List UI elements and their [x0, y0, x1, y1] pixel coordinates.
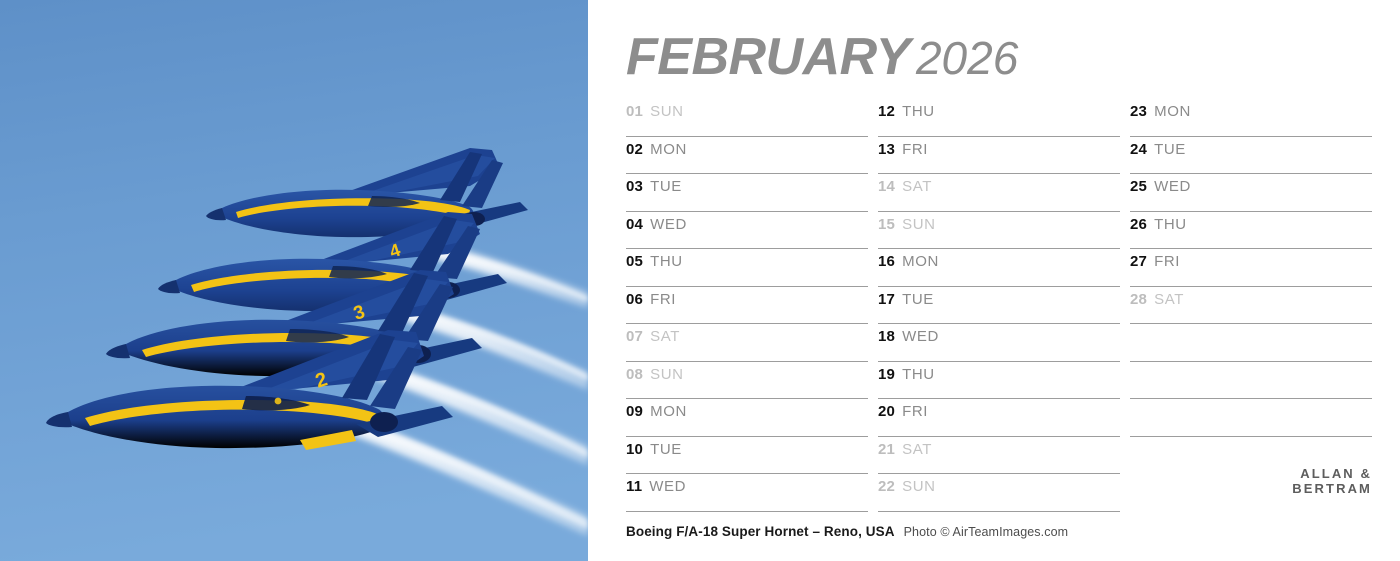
day-row[interactable]: 18WED: [878, 324, 1120, 362]
day-number: 17: [878, 291, 895, 308]
day-name: TUE: [1154, 141, 1186, 158]
day-name: THU: [1154, 216, 1187, 233]
day-name: MON: [902, 253, 939, 270]
day-name: FRI: [650, 291, 676, 308]
day-name: SUN: [902, 216, 935, 233]
day-number: 11: [626, 478, 642, 495]
day-name: WED: [1154, 178, 1191, 195]
day-name: SAT: [902, 441, 932, 458]
day-row[interactable]: 23MON: [1130, 99, 1372, 137]
day-name: SAT: [902, 178, 932, 195]
logo-line-1: ALLAN &: [1292, 466, 1372, 481]
calendar-panel: FEBRUARY2026 01SUN 02MON 03TUE 04WED 05T…: [588, 0, 1400, 561]
day-row[interactable]: 16MON: [878, 249, 1120, 287]
day-number: 24: [1130, 141, 1147, 158]
blank-note-row[interactable]: [1130, 362, 1372, 400]
day-row[interactable]: 22SUN: [878, 474, 1120, 512]
day-row[interactable]: 17TUE: [878, 287, 1120, 325]
day-number: 27: [1130, 253, 1147, 270]
day-number: 16: [878, 253, 895, 270]
day-name: MON: [1154, 103, 1191, 120]
year-label: 2026: [916, 32, 1018, 84]
day-number: 14: [878, 178, 895, 195]
day-name: THU: [650, 253, 683, 270]
day-row[interactable]: 25WED: [1130, 174, 1372, 212]
day-number: 06: [626, 291, 643, 308]
day-name: SUN: [650, 366, 683, 383]
day-number: 04: [626, 216, 643, 233]
month-label: FEBRUARY: [626, 28, 910, 86]
day-name: TUE: [902, 291, 934, 308]
day-number: 09: [626, 403, 643, 420]
caption-credit: Photo © AirTeamImages.com: [904, 525, 1069, 539]
pilot-helmet: [275, 398, 282, 405]
day-number: 20: [878, 403, 895, 420]
day-number: 01: [626, 103, 643, 120]
day-row[interactable]: 08SUN: [626, 362, 868, 400]
day-row[interactable]: 24TUE: [1130, 137, 1372, 175]
day-name: WED: [650, 216, 687, 233]
day-name: WED: [902, 328, 939, 345]
day-name: MON: [650, 403, 687, 420]
blank-note-row[interactable]: [1130, 324, 1372, 362]
day-name: THU: [902, 103, 935, 120]
day-row[interactable]: 02MON: [626, 137, 868, 175]
day-row[interactable]: 11WED: [626, 474, 868, 512]
day-name: FRI: [902, 403, 928, 420]
day-row[interactable]: 07SAT: [626, 324, 868, 362]
day-name: SUN: [902, 478, 935, 495]
day-number: 03: [626, 178, 643, 195]
day-row[interactable]: 20FRI: [878, 399, 1120, 437]
day-number: 13: [878, 141, 895, 158]
day-row[interactable]: 28SAT: [1130, 287, 1372, 325]
day-row[interactable]: 09MON: [626, 399, 868, 437]
day-number: 12: [878, 103, 895, 120]
day-row[interactable]: 14SAT: [878, 174, 1120, 212]
day-number: 23: [1130, 103, 1147, 120]
day-number: 25: [1130, 178, 1147, 195]
day-row[interactable]: 10TUE: [626, 437, 868, 475]
day-number: 07: [626, 328, 643, 345]
day-row[interactable]: 12THU: [878, 99, 1120, 137]
day-name: SAT: [650, 328, 680, 345]
day-name: FRI: [902, 141, 928, 158]
day-row[interactable]: 21SAT: [878, 437, 1120, 475]
day-name: THU: [902, 366, 935, 383]
day-number: 08: [626, 366, 643, 383]
day-name: MON: [650, 141, 687, 158]
day-row[interactable]: 04WED: [626, 212, 868, 250]
photo-caption: Boeing F/A-18 Super Hornet – Reno, USAPh…: [626, 523, 1068, 541]
day-column-3: 23MON 24TUE 25WED 26THU 27FRI 28SAT: [1130, 99, 1372, 512]
day-number: 26: [1130, 216, 1147, 233]
photo-panel: 4 3: [0, 0, 588, 561]
day-row[interactable]: 27FRI: [1130, 249, 1372, 287]
calendar-page: 4 3: [0, 0, 1400, 561]
day-row[interactable]: 26THU: [1130, 212, 1372, 250]
caption-subject: Boeing F/A-18 Super Hornet – Reno, USA: [626, 524, 895, 539]
day-number: 05: [626, 253, 643, 270]
day-name: TUE: [650, 441, 682, 458]
day-row[interactable]: 03TUE: [626, 174, 868, 212]
day-number: 02: [626, 141, 643, 158]
blue-angels-photo: 4 3: [0, 0, 588, 561]
blank-note-row[interactable]: [1130, 399, 1372, 437]
day-number: 18: [878, 328, 895, 345]
day-row[interactable]: 06FRI: [626, 287, 868, 325]
day-row[interactable]: 13FRI: [878, 137, 1120, 175]
logo-line-2: BERTRAM: [1292, 481, 1372, 496]
day-name: TUE: [650, 178, 682, 195]
day-number: 15: [878, 216, 895, 233]
day-row[interactable]: 05THU: [626, 249, 868, 287]
day-number: 28: [1130, 291, 1147, 308]
page-title: FEBRUARY2026: [626, 31, 1018, 83]
day-name: FRI: [1154, 253, 1180, 270]
day-columns: 01SUN 02MON 03TUE 04WED 05THU 06FRI 07SA…: [626, 99, 1372, 512]
brand-logo: ALLAN & BERTRAM: [1292, 466, 1372, 496]
day-column-1: 01SUN 02MON 03TUE 04WED 05THU 06FRI 07SA…: [626, 99, 868, 512]
day-row[interactable]: 15SUN: [878, 212, 1120, 250]
day-row[interactable]: 01SUN: [626, 99, 868, 137]
day-column-2: 12THU 13FRI 14SAT 15SUN 16MON 17TUE 18WE…: [878, 99, 1120, 512]
day-number: 22: [878, 478, 895, 495]
day-number: 10: [626, 441, 643, 458]
day-name: SUN: [650, 103, 683, 120]
day-number: 21: [878, 441, 895, 458]
day-name: WED: [649, 478, 686, 495]
day-row[interactable]: 19THU: [878, 362, 1120, 400]
day-number: 19: [878, 366, 895, 383]
day-name: SAT: [1154, 291, 1184, 308]
